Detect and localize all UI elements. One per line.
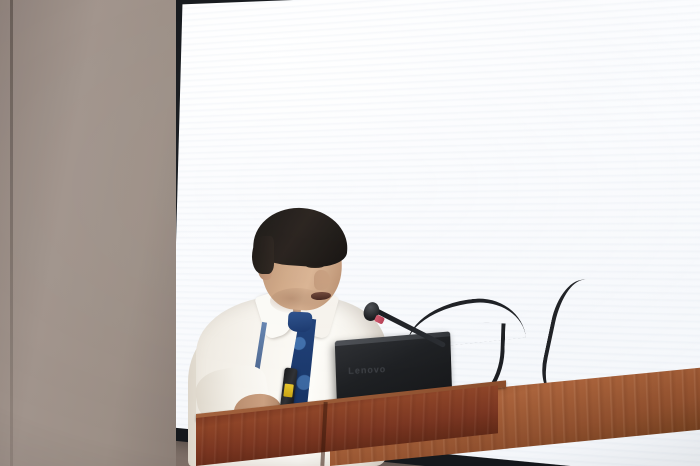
- necktie-knot: [287, 311, 312, 332]
- nose: [314, 270, 330, 290]
- slide-title: 食品安全研究室科研: [287, 97, 641, 152]
- slide-title-divider: [282, 162, 700, 169]
- clicker-label: [283, 384, 294, 398]
- wall-seam: [10, 0, 13, 466]
- hair-sideburn: [252, 236, 274, 274]
- wall-left: [0, 0, 176, 466]
- presentation-photo: 食品安全研究室科研 食品安全研究室是苏微公司在食品、农产品中有毒有害 物质监测领…: [0, 0, 700, 466]
- laptop-brand-logo: Lenovo: [348, 364, 386, 376]
